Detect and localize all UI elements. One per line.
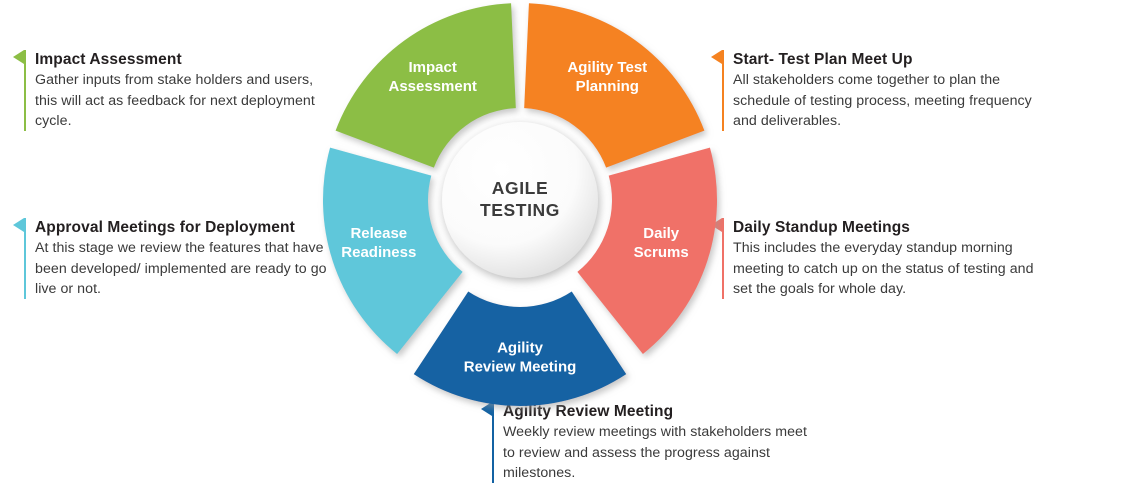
hub-label-line2: TESTING	[480, 200, 560, 220]
agile-testing-wheel: AGILE TESTING ImpactAssessmentAgility Te…	[320, 0, 740, 420]
hub-label-line1: AGILE	[492, 178, 548, 198]
note-heading: Daily Standup Meetings	[733, 218, 1052, 237]
wheel-segment-label-release-readiness-line2: Readiness	[341, 244, 416, 261]
left-triangle-marker-icon	[13, 50, 24, 64]
wheel-segment-label-agility-review-meeting-line1: Agility	[497, 340, 543, 357]
note-daily-standup-meetings: Daily Standup Meetings This includes the…	[722, 218, 1052, 299]
note-start-test-plan-meet-up: Start- Test Plan Meet Up All stakeholder…	[722, 50, 1032, 131]
note-approval-meetings-for-deployment: Approval Meetings for Deployment At this…	[24, 218, 344, 299]
note-impact-assessment: Impact Assessment Gather inputs from sta…	[24, 50, 324, 131]
wheel-segment-label-agility-test-planning-line2: Planning	[576, 78, 639, 95]
wheel-segment-label-daily-scrums-line2: Scrums	[634, 244, 689, 261]
left-triangle-marker-icon	[13, 218, 24, 232]
diagram-canvas: Impact Assessment Gather inputs from sta…	[0, 0, 1147, 500]
wheel-segment-label-release-readiness-line1: Release	[350, 225, 407, 242]
wheel-segment-label-impact-assessment-line1: Impact	[409, 59, 457, 76]
note-heading: Approval Meetings for Deployment	[35, 218, 344, 237]
note-heading: Impact Assessment	[35, 50, 324, 69]
accent-rule	[24, 218, 26, 299]
note-text: Gather inputs from stake holders and use…	[35, 70, 324, 131]
note-text: All stakeholders come together to plan t…	[733, 70, 1032, 131]
note-heading: Start- Test Plan Meet Up	[733, 50, 1032, 69]
wheel-segment-label-agility-review-meeting-line2: Review Meeting	[464, 359, 577, 376]
wheel-segment-label-impact-assessment-line2: Assessment	[389, 78, 477, 95]
accent-rule	[24, 50, 26, 131]
note-text: At this stage we review the features tha…	[35, 238, 344, 299]
wheel-segment-label-agility-test-planning-line1: Agility Test	[567, 59, 647, 76]
wheel-segment-label-daily-scrums-line1: Daily	[643, 225, 680, 242]
wheel-svg: AGILE TESTING ImpactAssessmentAgility Te…	[320, 0, 740, 420]
note-text: Weekly review meetings with stakeholders…	[503, 422, 812, 483]
note-text: This includes the everyday standup morni…	[733, 238, 1052, 299]
wheel-hub: AGILE TESTING	[442, 122, 598, 278]
